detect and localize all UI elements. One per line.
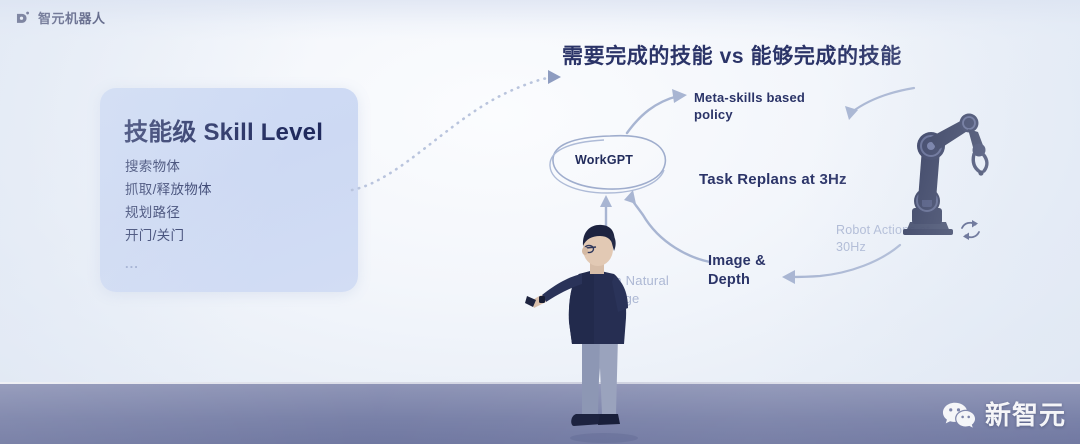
agibot-logo-icon bbox=[14, 10, 31, 27]
screenshot-stage: 智元机器人 技能级 Skill Level 搜索物体 抓取/释放物体 规划路径 … bbox=[0, 0, 1080, 444]
wechat-icon bbox=[942, 401, 976, 428]
list-item: 开门/关门 bbox=[125, 224, 212, 247]
skill-level-card: 技能级 Skill Level 搜索物体 抓取/释放物体 规划路径 开门/关门 … bbox=[100, 88, 358, 292]
node-label-image-depth: Image & Depth bbox=[708, 252, 798, 290]
skill-card-list: 搜索物体 抓取/释放物体 规划路径 开门/关门 bbox=[125, 155, 212, 247]
list-item: 抓取/释放物体 bbox=[125, 178, 212, 201]
node-label-workgpt: WorkGPT bbox=[575, 153, 633, 167]
list-item: 搜索物体 bbox=[125, 155, 212, 178]
presenter-figure bbox=[524, 218, 660, 444]
node-label-meta-skills: Meta-skills based policy bbox=[694, 89, 814, 123]
brand-name: 智元机器人 bbox=[38, 12, 106, 25]
skill-card-ellipsis: ... bbox=[125, 256, 139, 271]
watermark-text: 新智元 bbox=[985, 402, 1066, 428]
page-title: 需要完成的技能 vs 能够完成的技能 bbox=[562, 40, 902, 70]
node-label-task-replans: Task Replans at 3Hz bbox=[699, 171, 847, 188]
watermark: 新智元 bbox=[942, 401, 1066, 428]
list-item: 规划路径 bbox=[125, 201, 212, 224]
brand-logo: 智元机器人 bbox=[14, 10, 106, 27]
robot-arm-icon bbox=[888, 104, 998, 244]
skill-card-title: 技能级 Skill Level bbox=[124, 112, 323, 147]
